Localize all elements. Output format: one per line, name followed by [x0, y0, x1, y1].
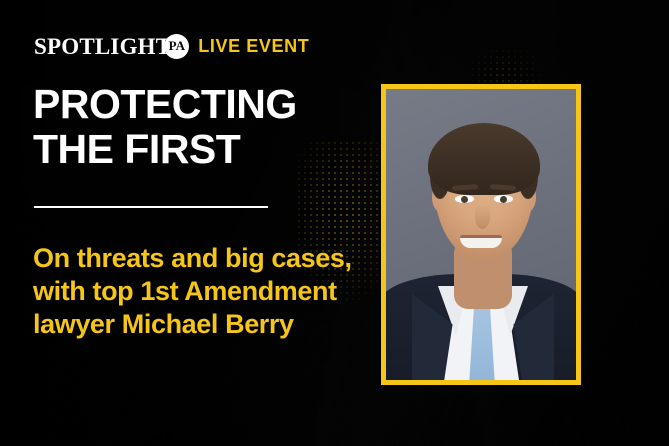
live-event-promo-poster: SPOTLIGHT PA LIVE EVENT Protecting the F…: [0, 0, 669, 446]
portrait-mouth: [460, 235, 502, 248]
speaker-headshot-image: [386, 89, 576, 380]
pa-badge-icon: PA: [164, 34, 189, 59]
portrait-nose: [475, 205, 490, 229]
divider-rule: [34, 206, 268, 208]
brand-lockup: SPOTLIGHT PA LIVE EVENT: [34, 33, 309, 59]
event-subtitle: On threats and big cases, with top 1st A…: [33, 242, 369, 341]
portrait-eye-left: [455, 195, 474, 203]
live-event-label: LIVE EVENT: [198, 37, 309, 55]
portrait-eye-right: [494, 195, 513, 203]
portrait-frame: [381, 84, 581, 385]
page-title: Protecting the First: [33, 82, 363, 172]
portrait-hair: [428, 123, 540, 195]
spotlight-wordmark: SPOTLIGHT: [34, 35, 171, 58]
